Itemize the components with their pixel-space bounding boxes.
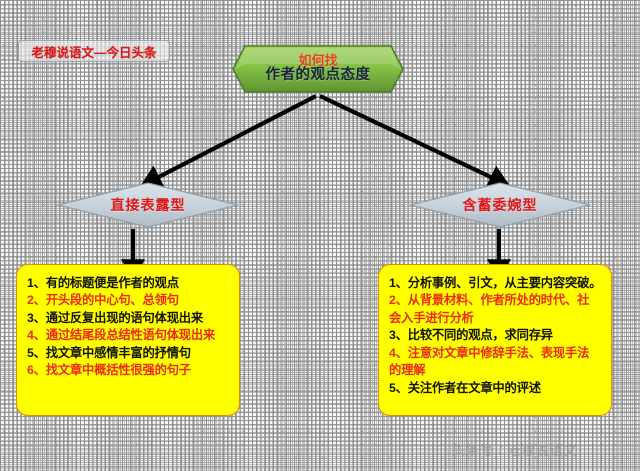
arrow-root-to-left (151, 96, 316, 181)
panel-direct-item-5: 5、找文章中感情丰富的抒情句 (27, 345, 231, 362)
panel-direct-item-3: 3、通过反复出现的语句体现出来 (27, 310, 231, 327)
root-node-text: 如何找 作者的观点态度 (231, 44, 405, 94)
branch-node-implicit[interactable]: 含蓄委婉型 (409, 182, 591, 228)
branch-node-implicit-label: 含蓄委婉型 (409, 182, 591, 228)
panel-implicit-methods[interactable]: 1、分析事例、引文，从主要内容突破。 2、从背景材料、作者所处的时代、社 会入手… (378, 264, 612, 416)
branch-node-direct-label: 直接表露型 (57, 182, 239, 228)
branch-node-direct[interactable]: 直接表露型 (57, 182, 239, 228)
panel-implicit-item-5: 5、关注作者在文章中的评述 (389, 380, 603, 397)
panel-direct-item-6: 6、找文章中概括性很强的句子 (27, 362, 231, 379)
panel-direct-methods[interactable]: 1、有的标题便是作者的观点 2、开头段的中心句、总领句 3、通过反复出现的语句体… (16, 264, 240, 416)
panel-direct-item-1: 1、有的标题便是作者的观点 (27, 275, 231, 292)
watermark-label: 头条号 / 老穆说语文 (452, 440, 578, 459)
brand-tag: 老穆说语文—今日头条 (18, 40, 170, 62)
panel-implicit-item-1: 1、分析事例、引文，从主要内容突破。 (389, 275, 603, 292)
diagram-canvas: 老穆说语文—今日头条 (0, 0, 640, 471)
brand-tag-label: 老穆说语文—今日头条 (31, 42, 156, 61)
panel-direct-item-4: 4、通过结尾段总结性语句体现出来 (27, 327, 231, 344)
root-node-line2: 作者的观点态度 (266, 68, 371, 84)
panel-implicit-item-3: 3、比较不同的观点，求同存异 (389, 327, 603, 344)
root-node[interactable]: 如何找 作者的观点态度 (231, 44, 405, 94)
arrow-root-to-right (320, 96, 499, 181)
panel-implicit-item-4: 4、注意对文章中修辞手法、表现手法 的理解 (389, 345, 603, 380)
panel-direct-item-2: 2、开头段的中心句、总领句 (27, 292, 231, 309)
panel-implicit-item-2: 2、从背景材料、作者所处的时代、社 会入手进行分析 (389, 292, 603, 327)
